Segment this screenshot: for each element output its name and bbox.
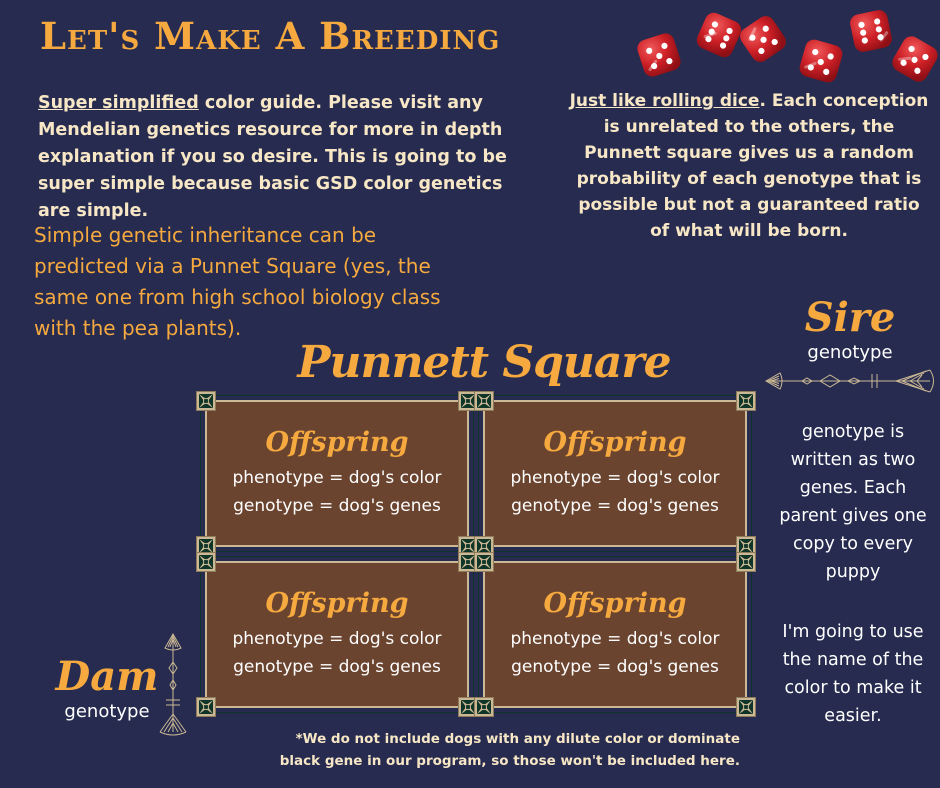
- sire-paragraph-2: I'm going to use the name of the color t…: [778, 618, 928, 730]
- ornate-corner-medallion-icon: [458, 697, 478, 717]
- punnett-cell-inner: Offspring phenotype = dog's color genoty…: [205, 400, 469, 547]
- offspring-label: Offspring: [266, 428, 409, 458]
- punnett-cell: Offspring phenotype = dog's color genoty…: [478, 556, 752, 713]
- genotype-line: genotype = dog's genes: [233, 492, 441, 520]
- ornate-corner-medallion-icon: [474, 697, 494, 717]
- sire-title: Sire: [762, 296, 938, 340]
- intro-emphasis: Super simplified: [38, 93, 199, 113]
- ornate-corner-medallion-icon: [196, 552, 216, 572]
- sire-block: Sire genotype: [762, 296, 938, 394]
- sire-paragraph-1: genotype is written as two genes. Each p…: [778, 418, 928, 586]
- decorative-arrow-icon: [152, 628, 194, 738]
- ornate-corner-medallion-icon: [196, 697, 216, 717]
- offspring-label: Offspring: [544, 589, 687, 619]
- infographic-page: Let's Make A Breeding Super simplified c…: [0, 0, 940, 788]
- genotype-line: genotype = dog's genes: [511, 653, 719, 681]
- ornate-corner-medallion-icon: [736, 391, 756, 411]
- punnett-square-grid: Offspring phenotype = dog's color genoty…: [200, 395, 752, 713]
- page-title: Let's Make A Breeding: [40, 18, 500, 55]
- ornate-corner-medallion-icon: [458, 552, 478, 572]
- punnett-cell: Offspring phenotype = dog's color genoty…: [200, 556, 474, 713]
- genotype-line: genotype = dog's genes: [511, 492, 719, 520]
- punnett-cell: Offspring phenotype = dog's color genoty…: [200, 395, 474, 552]
- intro-paragraph: Super simplified color guide. Please vis…: [38, 90, 518, 225]
- punnett-cell-inner: Offspring phenotype = dog's color genoty…: [483, 400, 747, 547]
- sire-subtitle: genotype: [762, 340, 938, 366]
- dice-note-paragraph: Just like rolling dice. Each conception …: [566, 88, 932, 244]
- ornate-corner-medallion-icon: [196, 391, 216, 411]
- dice-illustration: [630, 4, 940, 88]
- ornate-corner-medallion-icon: [458, 391, 478, 411]
- ornate-corner-medallion-icon: [736, 536, 756, 556]
- punnett-cell-inner: Offspring phenotype = dog's color genoty…: [483, 561, 747, 708]
- ornate-corner-medallion-icon: [458, 536, 478, 556]
- die-icon: [731, 7, 795, 71]
- die-icon: [844, 4, 899, 59]
- ornate-corner-medallion-icon: [474, 536, 494, 556]
- offspring-label: Offspring: [266, 589, 409, 619]
- ornate-corner-medallion-icon: [736, 697, 756, 717]
- punnet-intro-paragraph: Simple genetic inheritance can be predic…: [34, 220, 454, 344]
- die-icon: [630, 26, 688, 84]
- die-icon: [793, 33, 850, 90]
- phenotype-line: phenotype = dog's color: [232, 464, 441, 492]
- offspring-label: Offspring: [544, 428, 687, 458]
- genotype-line: genotype = dog's genes: [233, 653, 441, 681]
- ornate-corner-medallion-icon: [474, 552, 494, 572]
- phenotype-line: phenotype = dog's color: [510, 625, 719, 653]
- ornate-corner-medallion-icon: [196, 536, 216, 556]
- ornate-corner-medallion-icon: [474, 391, 494, 411]
- dice-note-emphasis: Just like rolling dice: [570, 91, 760, 111]
- dice-note-rest: . Each conception is unrelated to the ot…: [577, 91, 929, 241]
- phenotype-line: phenotype = dog's color: [232, 625, 441, 653]
- punnett-cell-inner: Offspring phenotype = dog's color genoty…: [205, 561, 469, 708]
- footnote: *We do not include dogs with any dilute …: [270, 728, 740, 772]
- decorative-arrow-icon: [762, 368, 938, 394]
- ornate-corner-medallion-icon: [736, 552, 756, 572]
- punnett-cell: Offspring phenotype = dog's color genoty…: [478, 395, 752, 552]
- phenotype-line: phenotype = dog's color: [510, 464, 719, 492]
